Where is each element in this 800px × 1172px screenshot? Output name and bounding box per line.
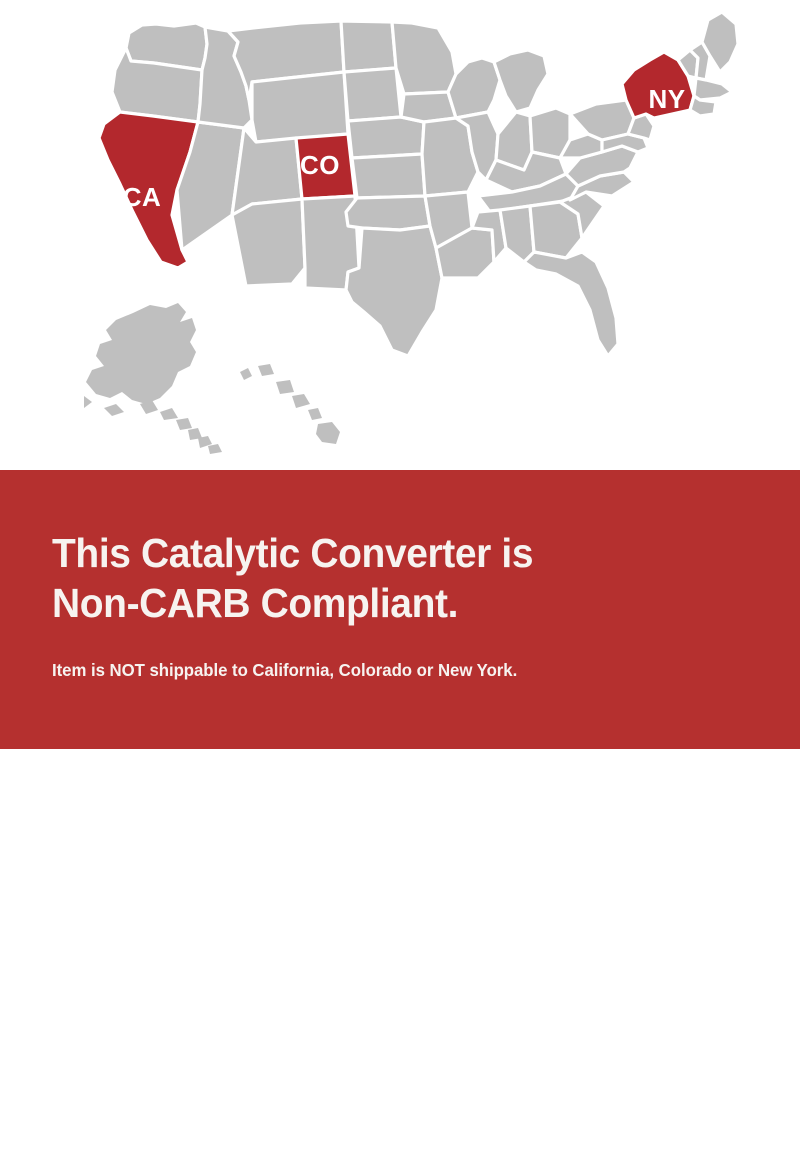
- us-map-container: CA CO NY: [0, 0, 800, 470]
- state-label-ca: CA: [123, 182, 162, 212]
- magnaflow-wordmark: MAGNAFLOW: [657, 1143, 771, 1162]
- state-oklahoma: [346, 196, 430, 230]
- magnaflow-wordmark-row: MAGNAFLOW ®: [662, 1143, 774, 1162]
- state-alaska-inset: [84, 303, 222, 454]
- state-south-dakota: [344, 68, 401, 121]
- state-alabama: [500, 206, 534, 262]
- state-label-co: CO: [300, 150, 340, 180]
- magnaflow-mf-monogram-icon: [665, 1090, 771, 1142]
- banner-subtitle: Item is NOT shippable to California, Col…: [52, 659, 628, 681]
- banner-headline-line-2: Non-CARB Compliant.: [52, 578, 622, 628]
- state-arizona: [232, 199, 305, 286]
- state-kansas: [352, 154, 425, 198]
- magnaflow-logo: MAGNAFLOW ®: [662, 1090, 774, 1172]
- registered-trademark-icon: ®: [776, 1152, 783, 1161]
- us-map-svg: CA CO NY: [0, 0, 800, 470]
- state-nebraska: [348, 117, 424, 158]
- state-label-ny: NY: [648, 84, 685, 114]
- compliance-banner: This Catalytic Converter is Non-CARB Com…: [0, 470, 800, 749]
- banner-headline-line-1: This Catalytic Converter is: [52, 528, 622, 578]
- banner-text-block: This Catalytic Converter is Non-CARB Com…: [52, 528, 652, 681]
- state-hawaii-inset: [240, 364, 340, 444]
- state-minnesota: [392, 22, 456, 94]
- state-florida: [524, 252, 618, 356]
- state-massachusetts: [694, 78, 732, 100]
- state-michigan: [494, 50, 548, 112]
- state-north-dakota: [341, 21, 396, 72]
- state-texas: [346, 226, 442, 356]
- state-wyoming: [252, 72, 348, 142]
